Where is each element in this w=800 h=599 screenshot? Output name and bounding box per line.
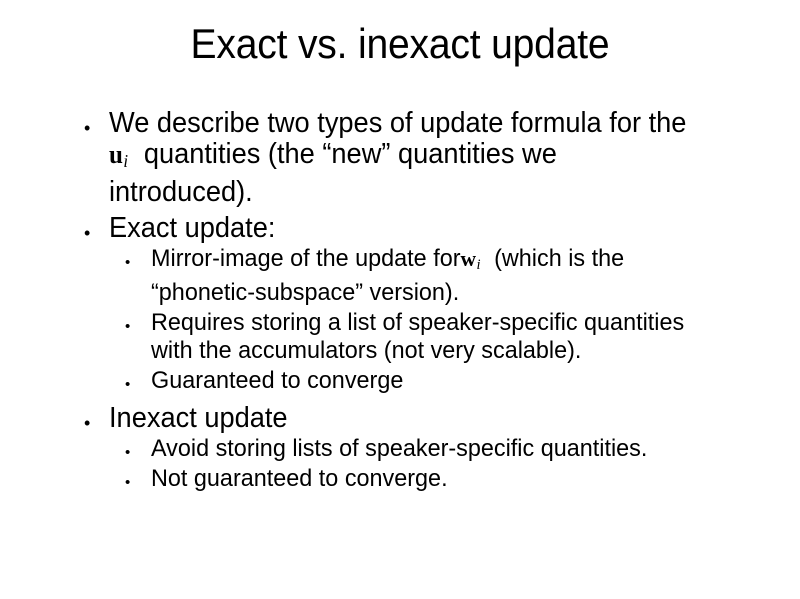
bullet-mirror-image-text: Mirror-image of the update forwi (which … <box>151 245 698 307</box>
bullet-exact-update: • Exact update: <box>76 213 724 244</box>
bullet-dot-icon: • <box>76 403 109 432</box>
bullet-mirror-image-part-0: Mirror-image of the update for <box>151 245 461 272</box>
slide: Exact vs. inexact update • We describe t… <box>0 0 800 599</box>
bullet-inexact-update: • Inexact update <box>76 403 724 434</box>
math-symbol-u: u <box>109 139 123 170</box>
bullet-not-guaranteed-text: Not guaranteed to converge. <box>151 465 698 493</box>
bullet-dot-icon: • <box>76 108 109 137</box>
bullet-dot-icon: • <box>76 213 109 242</box>
bullet-requires-storing-text: Requires storing a list of speaker-speci… <box>151 309 698 365</box>
bullet-exact-update-text: Exact update: <box>109 213 696 244</box>
bullet-not-guaranteed: • Not guaranteed to converge. <box>119 465 724 493</box>
math-subscript-i: i <box>123 151 128 171</box>
slide-body: • We describe two types of update formul… <box>76 108 724 495</box>
bullet-we-describe: • We describe two types of update formul… <box>76 108 724 208</box>
bullet-mirror-image: • Mirror-image of the update forwi (whic… <box>119 245 724 307</box>
bullet-dot-icon: • <box>119 367 151 392</box>
bullet-guaranteed-converge: • Guaranteed to converge <box>119 367 724 395</box>
bullet-dot-icon: • <box>119 309 151 334</box>
bullet-dot-icon: • <box>119 245 151 270</box>
bullet-avoid-storing: • Avoid storing lists of speaker-specifi… <box>119 435 724 463</box>
bullet-requires-storing: • Requires storing a list of speaker-spe… <box>119 309 724 365</box>
bullet-avoid-storing-text: Avoid storing lists of speaker-specific … <box>151 435 698 463</box>
bullet-we-describe-text: We describe two types of update formula … <box>109 108 696 208</box>
bullet-we-describe-part-2: quantities (the “new” quantities we intr… <box>109 138 557 208</box>
math-subscript-i: i <box>476 256 481 273</box>
bullet-dot-icon: • <box>119 465 151 490</box>
math-symbol-w: w <box>461 245 477 273</box>
bullet-we-describe-part-0: We describe two types of update formula … <box>109 107 686 139</box>
page-title: Exact vs. inexact update <box>65 20 735 67</box>
bullet-guaranteed-converge-text: Guaranteed to converge <box>151 367 698 395</box>
bullet-dot-icon: • <box>119 435 151 460</box>
bullet-inexact-update-text: Inexact update <box>109 403 696 434</box>
